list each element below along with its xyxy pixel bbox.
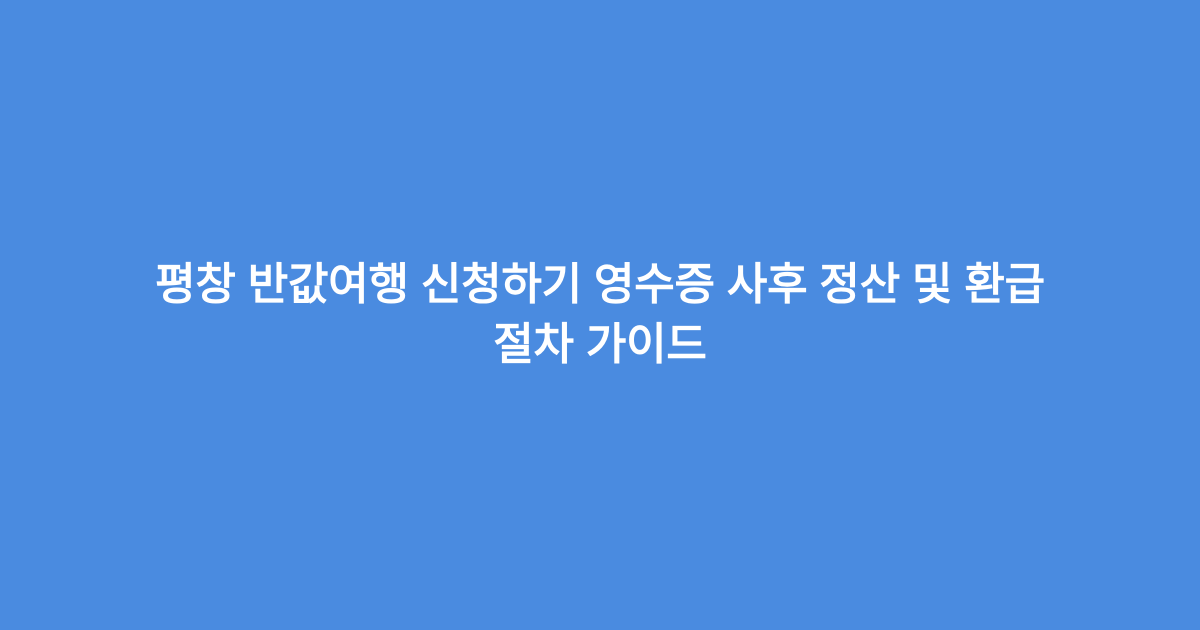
og-card: 평창 반값여행 신청하기 영수증 사후 정산 및 환급 절차 가이드 bbox=[0, 0, 1200, 630]
headline-block: 평창 반값여행 신청하기 영수증 사후 정산 및 환급 절차 가이드 bbox=[0, 255, 1200, 375]
page-title: 평창 반값여행 신청하기 영수증 사후 정산 및 환급 절차 가이드 bbox=[60, 255, 1140, 375]
